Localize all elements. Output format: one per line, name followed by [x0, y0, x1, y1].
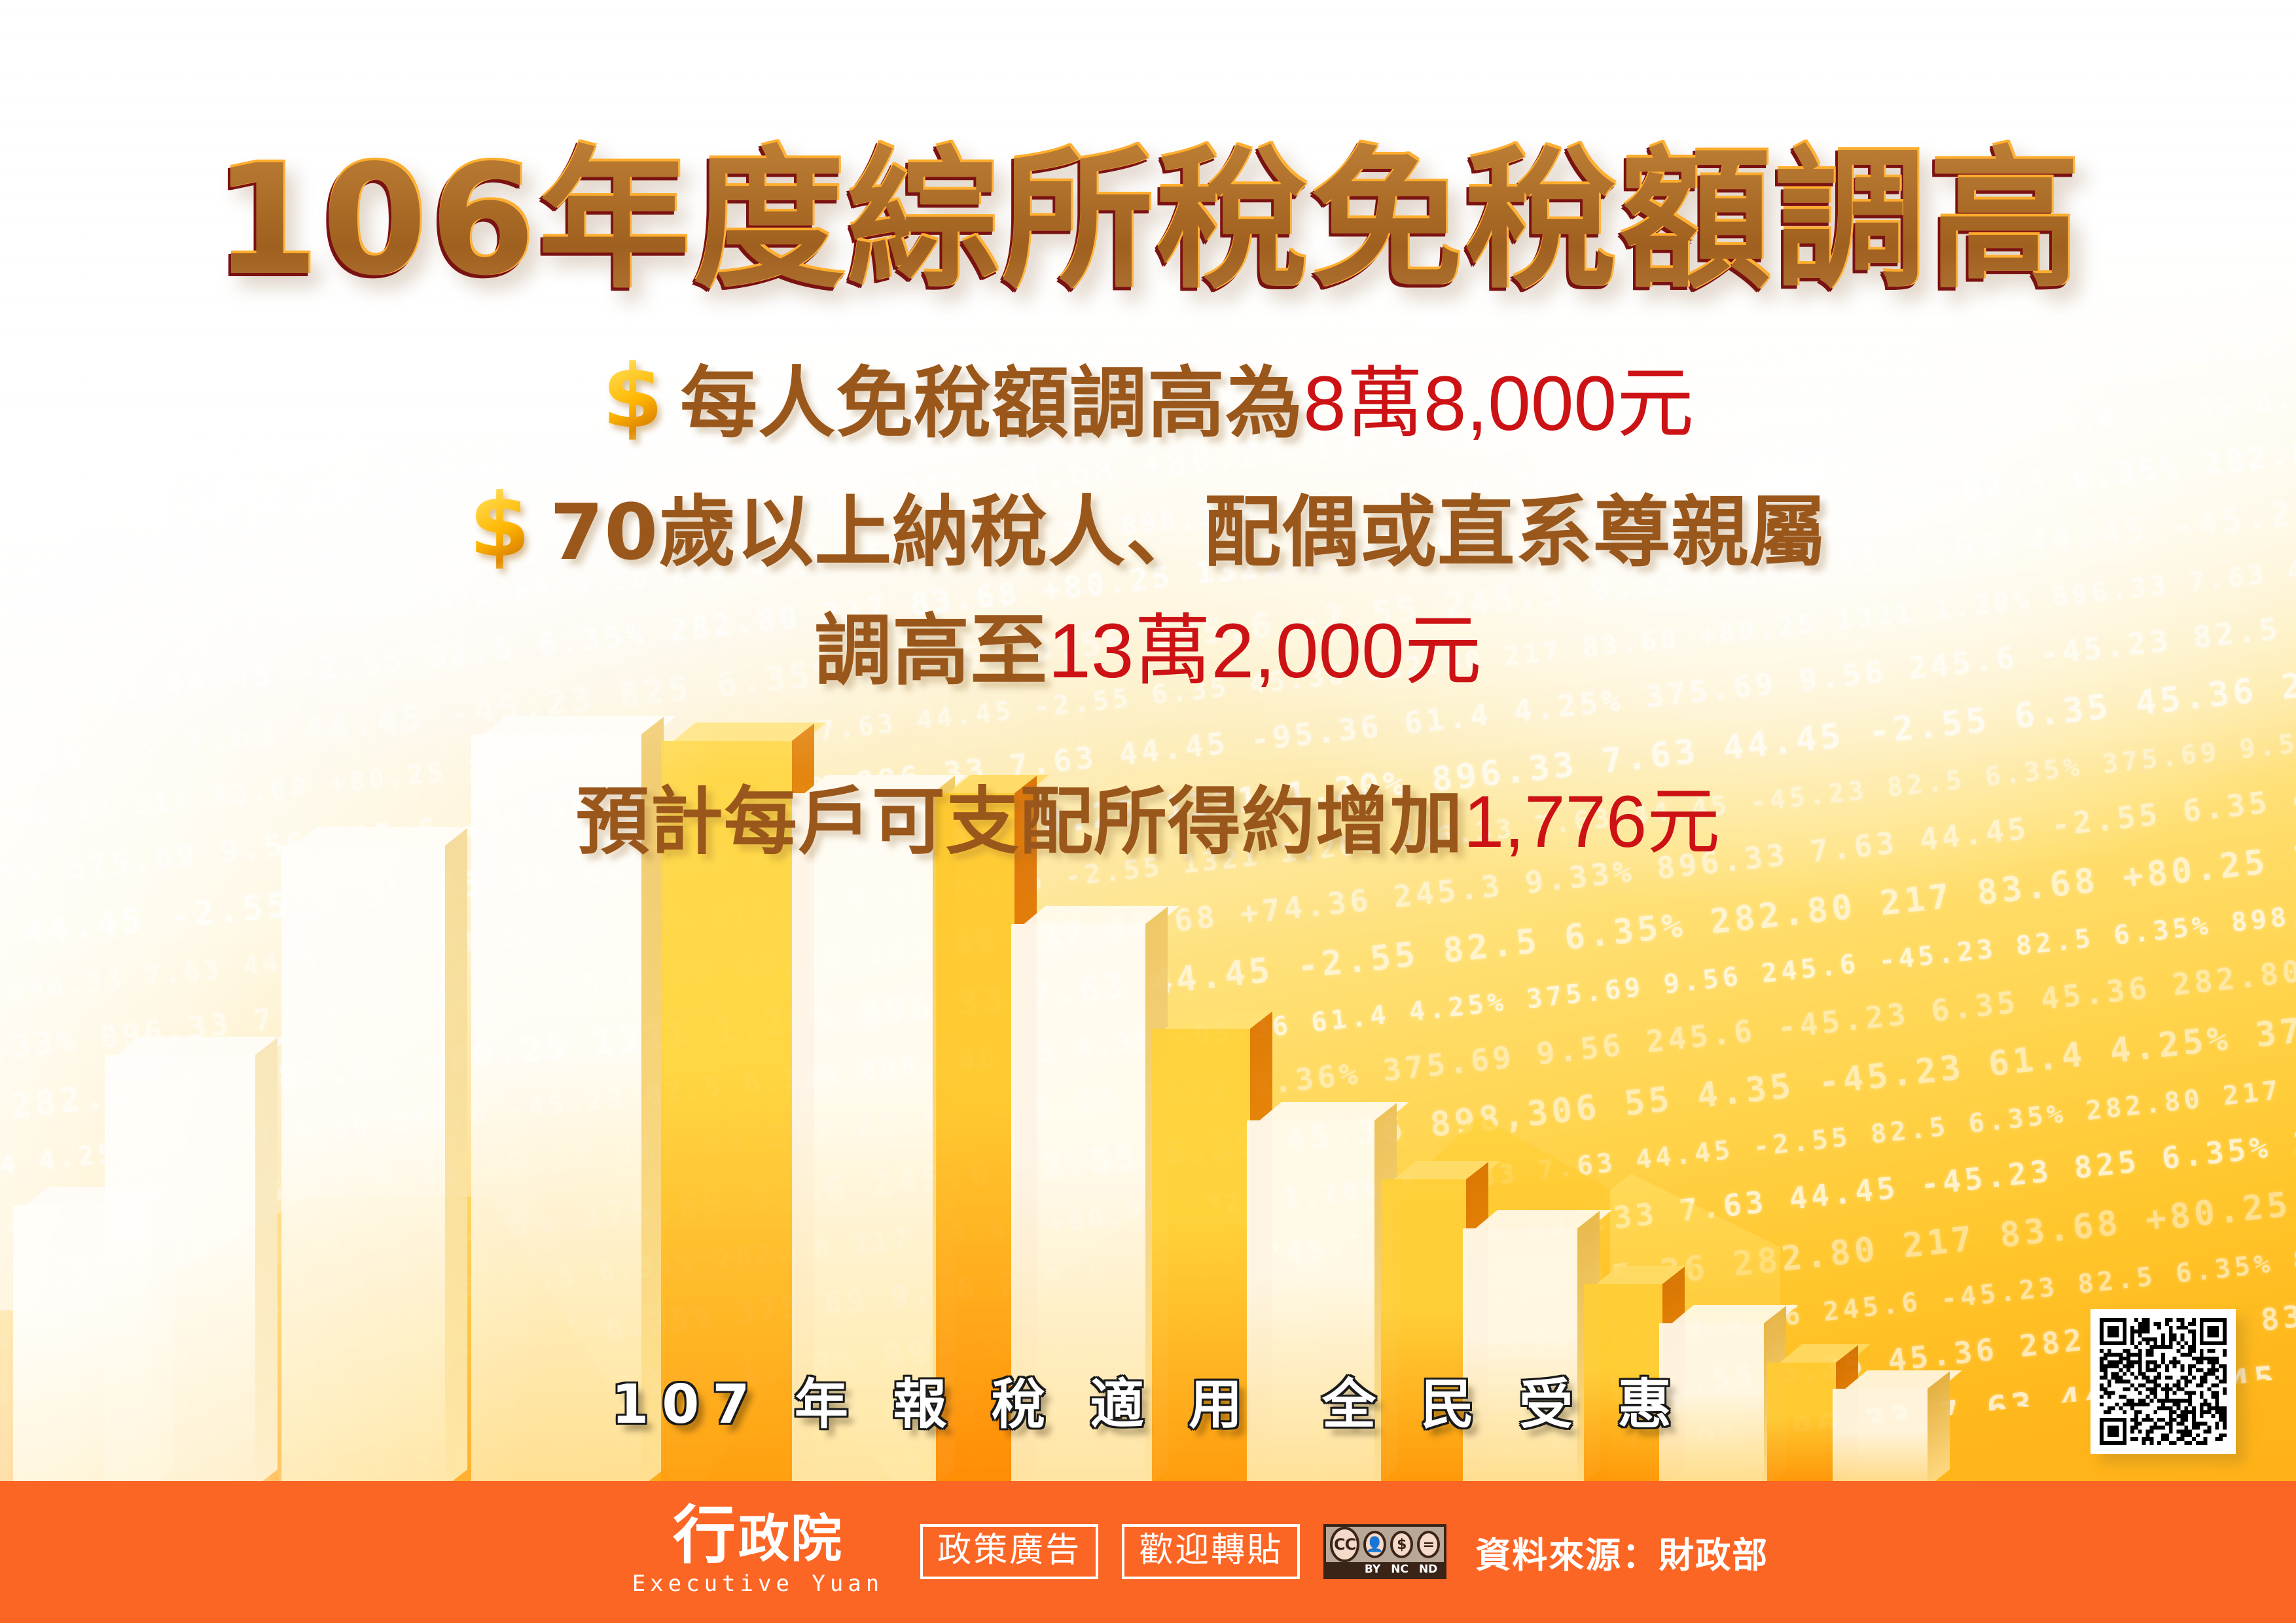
bar-face — [1463, 1228, 1577, 1487]
data-source-label: 資料來源：財政部 — [1475, 1526, 1768, 1578]
body-line-3: 調高至 13萬2,000元 — [0, 588, 2296, 700]
policy-ad-tag: 政策廣告 — [920, 1524, 1098, 1579]
cc-icon: CC — [1330, 1527, 1359, 1562]
background-bar — [1463, 1228, 1577, 1487]
cc-nd-equals-icon: = — [1417, 1531, 1440, 1558]
body-line-1-amount: 8萬8,000元 — [1303, 340, 1694, 452]
executive-yuan-logo-en: Executive Yuan — [632, 1571, 884, 1597]
qr-code-image — [2100, 1318, 2227, 1445]
bar-face — [1381, 1179, 1466, 1487]
creative-commons-badge: CC 👤 $ = BY NC ND — [1323, 1524, 1446, 1579]
cc-by-label: BY — [1365, 1563, 1380, 1576]
executive-yuan-logo-cn: 行 政院 — [673, 1507, 843, 1563]
body-line-4-amount: 1,776元 — [1463, 762, 1720, 868]
logo-char-xing: 行 — [673, 1507, 737, 1563]
body-line-1: $ 每人免稅額調高為 8萬8,000元 — [0, 340, 2296, 452]
dollar-sign-icon: $ — [469, 482, 530, 569]
footer-bar: 行 政院 Executive Yuan 政策廣告 歡迎轉貼 CC 👤 $ = B… — [0, 1481, 2296, 1623]
cc-nc-label: NC — [1391, 1563, 1408, 1576]
cc-badge-icons: CC 👤 $ = — [1326, 1527, 1444, 1562]
body-line-4: 預計每戶可支配所得約增加 1,776元 — [0, 762, 2296, 868]
body-line-3-text: 調高至 — [814, 588, 1048, 700]
body-line-3-amount: 13萬2,000元 — [1048, 588, 1482, 700]
background-bar — [1381, 1179, 1466, 1487]
body-line-2: $ 70歲以上納稅人、配偶或直系尊親屬 — [0, 469, 2296, 581]
cc-nd-label: ND — [1419, 1563, 1437, 1576]
cc-nc-no-money-icon: $ — [1390, 1531, 1413, 1558]
body-line-4-text: 預計每戶可支配所得約增加 — [576, 762, 1463, 868]
page-title: 106年度綜所稅免稅額調高 — [0, 97, 2296, 317]
tagline: 107 年 報 稅 適 用 全 民 受 惠 — [0, 1361, 2296, 1438]
body-copy: $ 每人免稅額調高為 8萬8,000元 $ 70歲以上納稅人、配偶或直系尊親屬 … — [0, 340, 2296, 868]
executive-yuan-logo: 行 政院 Executive Yuan — [632, 1507, 884, 1596]
welcome-repost-tag: 歡迎轉貼 — [1122, 1524, 1300, 1579]
qr-code[interactable] — [2090, 1309, 2236, 1454]
cc-badge-labels: BY NC ND — [1326, 1562, 1444, 1577]
body-line-1-text: 每人免稅額調高為 — [680, 340, 1303, 452]
cc-by-person-icon: 👤 — [1363, 1531, 1386, 1558]
logo-char-zhengyuan: 政院 — [738, 1515, 843, 1564]
body-line-2-text: 70歲以上納稅人、配偶或直系尊親屬 — [550, 469, 1827, 581]
dollar-sign-icon: $ — [602, 353, 663, 440]
poster-canvas: 896.33 7.63 44.45 -2.55 6.35 45.36 282.8… — [0, 0, 2296, 1623]
